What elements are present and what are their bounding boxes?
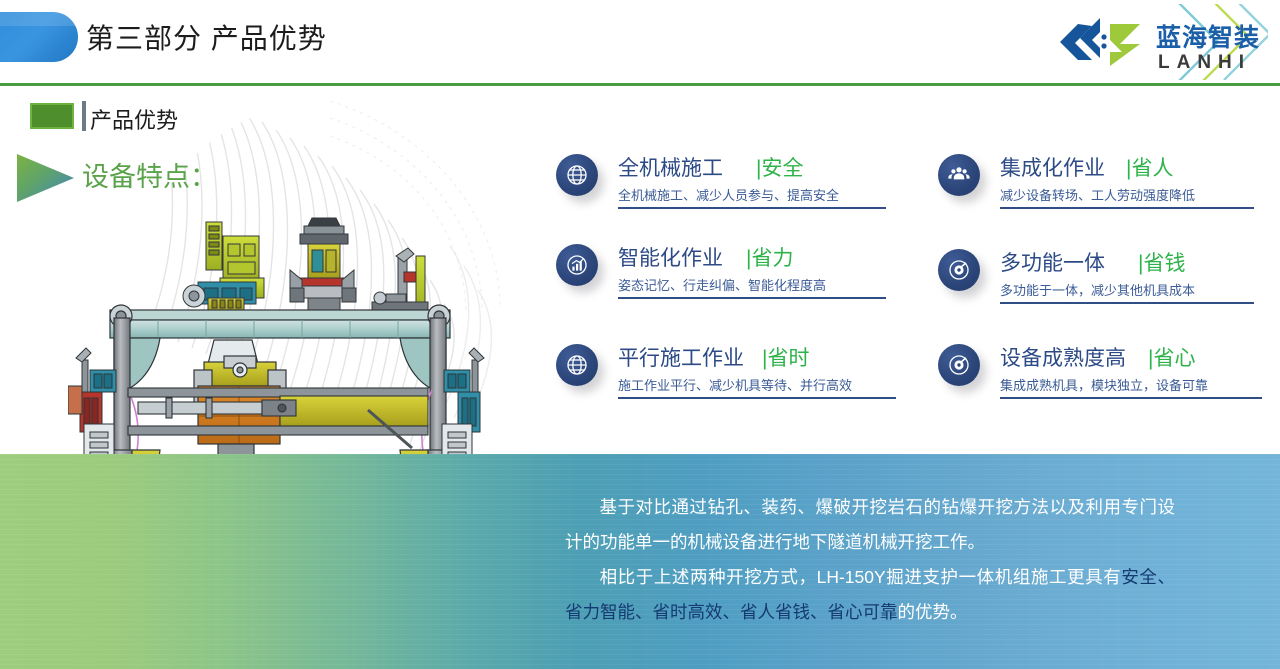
feature-card-duo-gong-neng-yi-ti[interactable]: 多功能一体 |省钱 多功能于一体，减少其他机具成本: [938, 247, 1278, 321]
feature-underline: [618, 397, 896, 399]
feature-subtitle: 姿态记忆、行走纠偏、智能化程度高: [618, 275, 826, 294]
disc-target-icon: [938, 249, 980, 291]
feature-title: 智能化作业: [618, 242, 723, 272]
play-triangle-icon: [14, 152, 76, 204]
feature-subtitle: 多功能于一体，减少其他机具成本: [1000, 280, 1195, 299]
feature-subtitle: 施工作业平行、减少机具等待、并行高效: [618, 375, 852, 394]
feature-section-label: 设备特点：: [82, 155, 217, 194]
brand-logo: 蓝海智装 LANHI: [1048, 4, 1268, 80]
lanhi-diamond-mark-icon: 蓝海智装 LANHI: [1048, 4, 1268, 80]
feature-tag: |省力: [746, 242, 793, 272]
feature-title: 平行施工作业: [618, 342, 744, 372]
feature-subtitle: 减少设备转场、工人劳动强度降低: [1000, 185, 1195, 204]
feature-underline: [1000, 207, 1254, 209]
section-title: 产品优势: [90, 103, 178, 135]
feature-tag: |省时: [762, 342, 809, 372]
feature-tag: |省人: [1126, 152, 1173, 182]
green-square-chip-icon: [30, 103, 74, 129]
feature-title: 设备成熟度高: [1000, 342, 1126, 372]
feature-subtitle: 全机械施工、减少人员参与、提高安全: [618, 185, 839, 204]
summary-paragraph-1: 基于对比通过钻孔、装药、爆破开挖岩石的钻爆开挖方法以及利用专门设计的功能单一的机…: [565, 490, 1175, 560]
slide-header: 第三部分 产品优势 蓝海智装 LANHI: [0, 0, 1280, 85]
feature-tag: |安全: [756, 152, 803, 182]
feature-underline: [618, 207, 886, 209]
section-title-bar: [82, 101, 86, 131]
svg-text:LANHI: LANHI: [1158, 52, 1251, 73]
feature-card-ping-xing-shi-gong-zuo-ye[interactable]: 平行施工作业 |省时 施工作业平行、减少机具等待、并行高效: [556, 342, 896, 416]
feature-underline: [1000, 302, 1254, 304]
feature-subtitle: 集成成熟机具，模块独立，设备可靠: [1000, 375, 1208, 394]
slide-root: 第三部分 产品优势 蓝海智装 LANHI: [0, 0, 1280, 669]
globe-icon: [556, 154, 598, 196]
feature-title: 多功能一体: [1000, 247, 1105, 277]
globe-icon: [556, 344, 598, 386]
summary-paragraph-2: 相比于上述两种开挖方式，LH-150Y掘进支护一体机组施工更具有安全、省力智能、…: [565, 560, 1175, 630]
disc-target-icon: [938, 344, 980, 386]
feature-card-she-bei-cheng-shu-du-gao[interactable]: 设备成熟度高 |省心 集成成熟机具，模块独立，设备可靠: [938, 342, 1278, 416]
header-divider: [0, 83, 1280, 86]
summary-text: 基于对比通过钻孔、装药、爆破开挖岩石的钻爆开挖方法以及利用专门设计的功能单一的机…: [565, 490, 1175, 630]
page-title: 第三部分 产品优势: [86, 17, 327, 57]
feature-card-quan-ji-xie-shi-gong[interactable]: 全机械施工 |安全 全机械施工、减少人员参与、提高安全: [556, 152, 896, 226]
feature-title: 全机械施工: [618, 152, 723, 182]
feature-tag: |省钱: [1138, 247, 1185, 277]
summary-band: 基于对比通过钻孔、装药、爆破开挖岩石的钻爆开挖方法以及利用专门设计的功能单一的机…: [0, 454, 1280, 669]
feature-card-ji-cheng-hua-zuo-ye[interactable]: 集成化作业 |省人 减少设备转场、工人劳动强度降低: [938, 152, 1278, 226]
feature-underline: [618, 297, 886, 299]
feature-underline: [1000, 397, 1262, 399]
feature-card-zhi-neng-hua-zuo-ye[interactable]: 智能化作业 |省力 姿态记忆、行走纠偏、智能化程度高: [556, 242, 896, 316]
feature-title: 集成化作业: [1000, 152, 1105, 182]
logo-name-cn: 蓝海智装: [1156, 23, 1260, 52]
bar-chart-icon: [556, 244, 598, 286]
group-people-icon: [938, 154, 980, 196]
header-accent-pill-icon: [0, 12, 78, 62]
feature-tag: |省心: [1148, 342, 1195, 372]
